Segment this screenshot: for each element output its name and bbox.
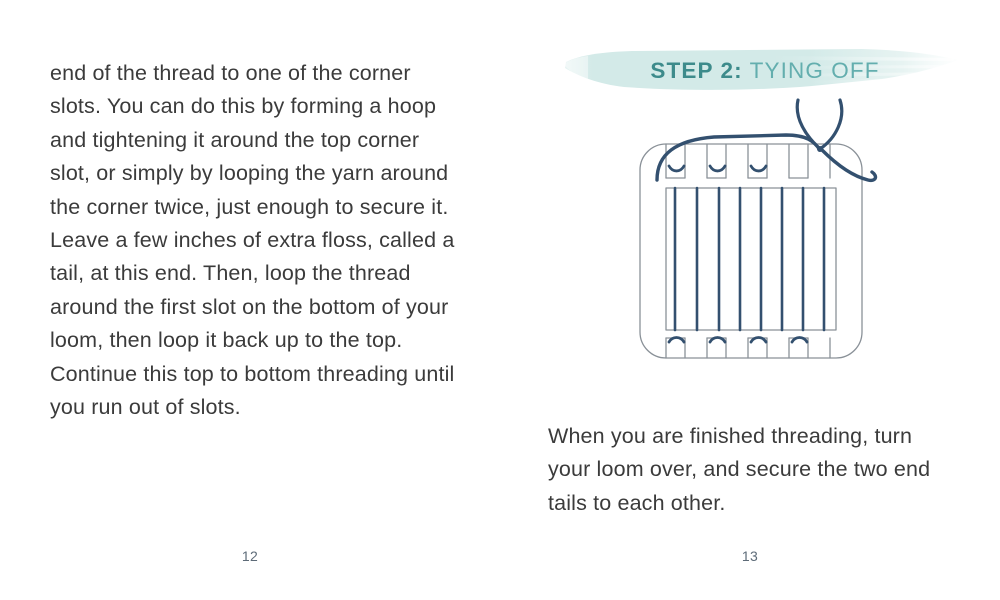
page-number-left: 12 (0, 548, 500, 564)
right-page-caption: When you are finished threading, turn yo… (548, 420, 958, 520)
step-label: STEP 2: (650, 58, 742, 84)
bottom-slot-thread-loops (669, 338, 807, 342)
book-spread: end of the thread to one of the corner s… (0, 0, 1000, 600)
warp-threads (675, 188, 824, 330)
step-banner-text: STEP 2: TYING OFF (562, 46, 962, 96)
running-thread (657, 135, 875, 180)
caption-paragraph: When you are finished threading, turn yo… (548, 420, 958, 520)
left-page-body-copy: end of the thread to one of the corner s… (50, 57, 455, 424)
knot-point (817, 146, 823, 152)
step-banner: STEP 2: TYING OFF (562, 46, 962, 96)
loom-diagram-icon (610, 92, 900, 392)
step-title: TYING OFF (743, 58, 880, 84)
right-page: STEP 2: TYING OFF (500, 0, 1000, 600)
loom-illustration (610, 92, 900, 392)
tie-off-knot (797, 100, 842, 149)
page-number-right: 13 (500, 548, 1000, 564)
top-slot-thread-loops (669, 166, 766, 171)
left-page: end of the thread to one of the corner s… (0, 0, 500, 600)
body-paragraph: end of the thread to one of the corner s… (50, 57, 455, 424)
